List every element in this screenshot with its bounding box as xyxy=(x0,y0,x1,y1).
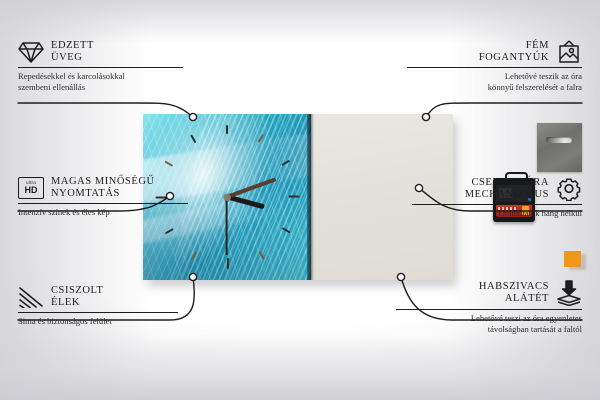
callout-rule xyxy=(18,312,178,313)
callout-desc-line2: könnyű felszerelését a falra xyxy=(407,82,582,92)
callout-header: CSISZOLT ÉLEK xyxy=(18,285,188,309)
callout-tempered-glass[interactable]: EDZETT ÜVEG Repedésekkel és karcolásokka… xyxy=(18,40,193,92)
callout-title: MAGAS MINŐSÉGŰ NYOMTATÁS xyxy=(51,176,155,200)
ultra-hd-icon-large-label: HD xyxy=(25,186,38,195)
foam-spacer-pad xyxy=(564,251,581,267)
callout-desc-line1: Óramutatók hang nélkül xyxy=(412,208,582,218)
diamond-icon xyxy=(18,40,44,64)
foam-layers-icon xyxy=(556,280,582,306)
hanging-frame-icon xyxy=(556,40,582,64)
callout-silent-mechanism[interactable]: CSENDES ÓRA MECHANIZMUS Óramutatók hang … xyxy=(412,176,582,219)
callout-desc-line1: Lehetővé teszi az óra egyenletes xyxy=(396,313,582,323)
callout-header: CSENDES ÓRA MECHANIZMUS xyxy=(412,176,582,201)
callout-rule xyxy=(407,67,582,68)
polished-edges-icon xyxy=(18,286,44,308)
callout-title: CSISZOLT ÉLEK xyxy=(51,285,103,309)
callout-title: CSENDES ÓRA MECHANIZMUS xyxy=(465,177,549,201)
callout-desc-line1: Intenzív színek és éles kép xyxy=(18,207,198,217)
gear-icon xyxy=(556,176,582,201)
callout-desc-line2: szembeni ellenállás xyxy=(18,82,193,92)
callout-desc-line1: Sima és biztonságos felület xyxy=(18,316,188,326)
clock-center-cap xyxy=(224,194,231,201)
callout-rule xyxy=(412,204,582,205)
callout-metal-handles[interactable]: FÉM FOGANTYÚK Lehetővé teszik az óra kön… xyxy=(407,40,582,92)
callout-desc-line1: Lehetővé teszik az óra xyxy=(407,71,582,81)
callout-rule xyxy=(18,203,188,204)
infographic-canvas: EDZETT ÜVEG Repedésekkel és karcolásokka… xyxy=(0,0,600,400)
callout-desc-line1: Repedésekkel és karcolásokkal xyxy=(18,71,193,81)
clock-second-hand xyxy=(226,197,228,255)
callout-title: HABSZIVACS ALÁTÉT xyxy=(479,281,549,305)
callout-title: EDZETT ÜVEG xyxy=(51,40,94,64)
metal-hanger-plate xyxy=(537,123,582,172)
callout-header: HABSZIVACS ALÁTÉT xyxy=(396,280,582,306)
ultra-hd-icon: ultra HD xyxy=(18,177,44,199)
callout-high-quality-print[interactable]: ultra HD MAGAS MINŐSÉGŰ NYOMTATÁS Intenz… xyxy=(18,176,198,218)
callout-foam-pad[interactable]: HABSZIVACS ALÁTÉT Lehetővé teszi az óra … xyxy=(396,280,582,334)
callout-desc-line2: távolságban tartását a faltól xyxy=(396,324,582,334)
hanger-slot xyxy=(546,137,572,143)
callout-header: FÉM FOGANTYÚK xyxy=(407,40,582,64)
callout-header: ultra HD MAGAS MINŐSÉGŰ NYOMTATÁS xyxy=(18,176,198,200)
callout-rule xyxy=(396,309,582,310)
clock-minute-hand xyxy=(226,177,276,199)
callout-rule xyxy=(18,67,183,68)
callout-polished-edges[interactable]: CSISZOLT ÉLEK Sima és biztonságos felüle… xyxy=(18,285,188,327)
callout-title: FÉM FOGANTYÚK xyxy=(479,40,549,64)
callout-header: EDZETT ÜVEG xyxy=(18,40,193,64)
